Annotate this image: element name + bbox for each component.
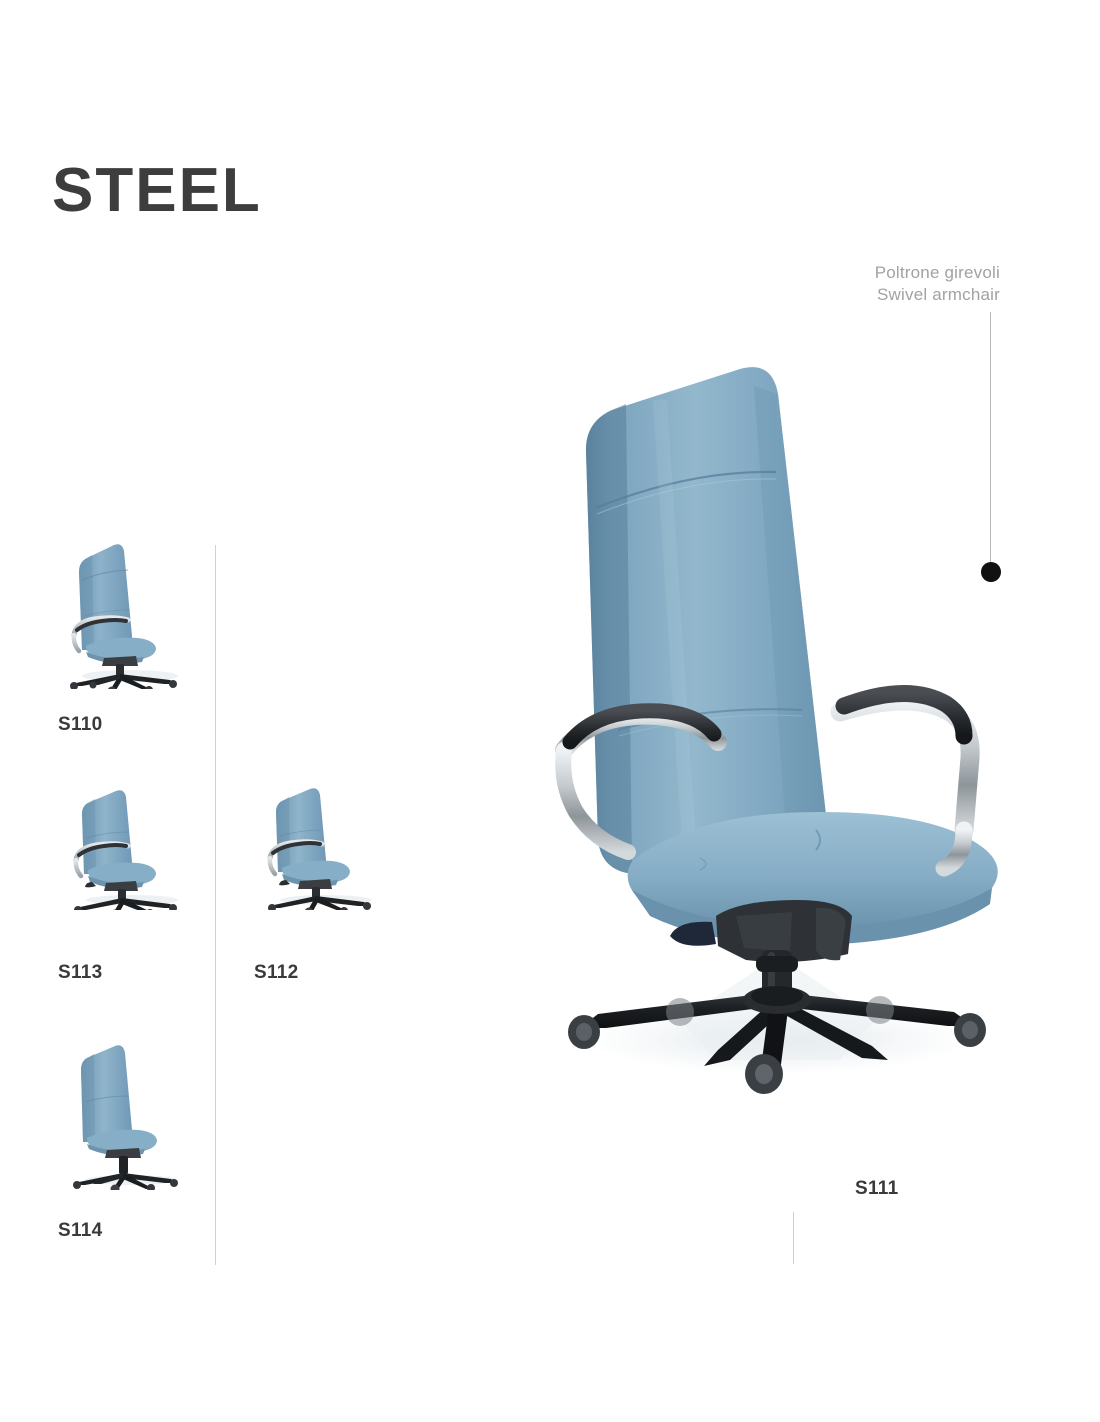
product-code-s114: S114 (58, 1220, 103, 1242)
product-image-s112[interactable] (252, 762, 400, 910)
product-image-s114[interactable] (55, 1030, 205, 1190)
callout-line-italian: Poltrone girevoli (875, 262, 1000, 284)
hero-divider (793, 1212, 794, 1264)
thumbnail-column-divider (215, 545, 216, 1265)
product-code-s112: S112 (254, 962, 299, 984)
product-code-s110: S110 (58, 714, 103, 736)
product-image-s110[interactable] (52, 524, 212, 689)
product-code-s113: S113 (58, 962, 103, 984)
product-image-s113[interactable] (58, 762, 206, 910)
callout-line-english: Swivel armchair (875, 284, 1000, 306)
page-title: STEEL (52, 160, 262, 222)
callout-text: Poltrone girevoli Swivel armchair (875, 262, 1000, 307)
product-code-s111: S111 (855, 1178, 898, 1200)
product-image-s111-hero[interactable] (540, 360, 1020, 1100)
catalog-page: STEEL Poltrone girevoli Swivel armchair (0, 0, 1100, 1422)
